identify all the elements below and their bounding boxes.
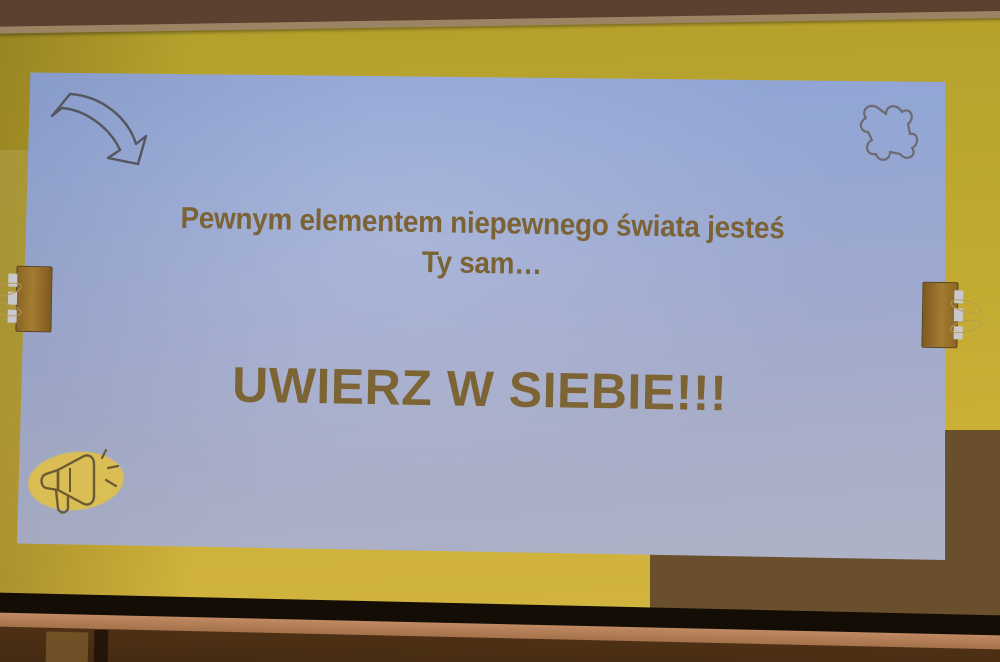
projection-screen: Pewnym elementem niepewnego świata jeste… — [0, 0, 1000, 662]
slide-text-block: Pewnym elementem niepewnego świata jeste… — [12, 54, 951, 570]
slide-subtitle: Pewnym elementem niepewnego świata jeste… — [49, 196, 915, 290]
slide-subtitle-line2: Ty sam… — [422, 246, 543, 281]
clip-body — [15, 266, 52, 333]
binder-clip-left — [7, 266, 54, 331]
slide-subtitle-line1: Pewnym elementem niepewnego świata jeste… — [180, 202, 785, 246]
binder-clip-right — [917, 282, 964, 347]
photo-scene: Pewnym elementem niepewnego świata jeste… — [0, 0, 1000, 662]
slide-headline: UWIERZ W SIEBIE!!! — [14, 352, 945, 426]
